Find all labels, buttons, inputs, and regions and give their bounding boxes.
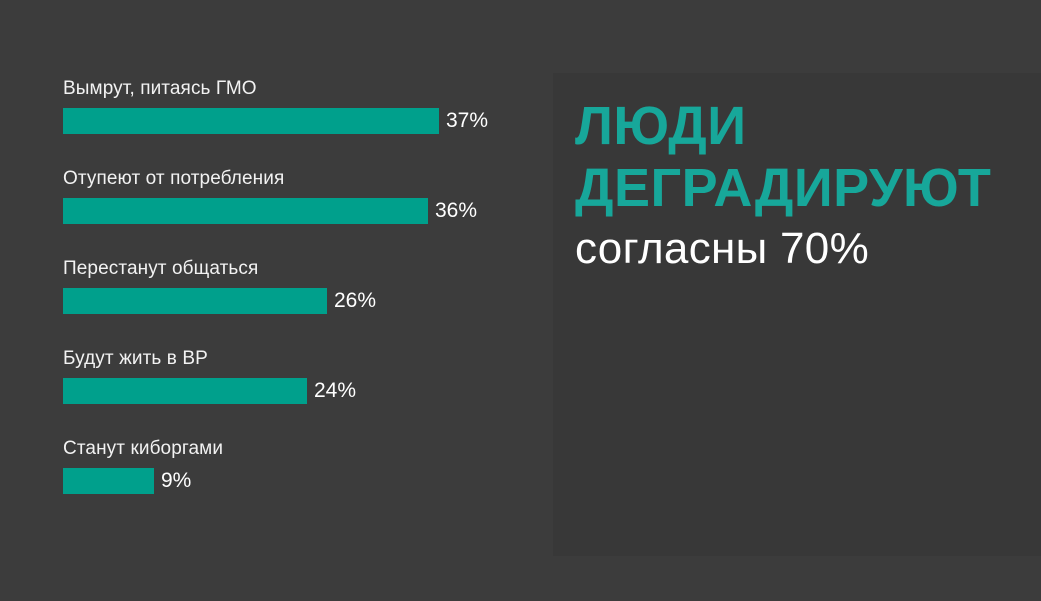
bar-value-label: 26% <box>334 288 376 314</box>
bar-row: Вымрут, питаясь ГМО37% <box>63 78 533 134</box>
bar-fill <box>63 378 307 404</box>
bar-row: Станут киборгами9% <box>63 438 533 494</box>
headline-line-2: ДЕГРАДИРУЮТ <box>575 157 1015 219</box>
headline-panel: ЛЮДИ ДЕГРАДИРУЮТ согласны 70% <box>553 73 1041 556</box>
infographic-slide: Вымрут, питаясь ГМО37%Отупеют от потребл… <box>0 0 1041 601</box>
bar-value-label: 9% <box>161 468 191 494</box>
bar-label: Вымрут, питаясь ГМО <box>63 78 533 100</box>
bar-value-label: 37% <box>446 108 488 134</box>
bar-fill <box>63 468 154 494</box>
bar-label: Отупеют от потребления <box>63 168 533 190</box>
bar-track: 37% <box>63 108 533 134</box>
bar-track: 24% <box>63 378 533 404</box>
bar-row: Отупеют от потребления36% <box>63 168 533 224</box>
bar-fill <box>63 108 439 134</box>
bar-value-label: 36% <box>435 198 477 224</box>
headline-text-block: ЛЮДИ ДЕГРАДИРУЮТ согласны 70% <box>575 95 1015 277</box>
bar-fill <box>63 288 327 314</box>
bar-track: 9% <box>63 468 533 494</box>
bar-track: 36% <box>63 198 533 224</box>
bar-value-label: 24% <box>314 378 356 404</box>
bar-label: Станут киборгами <box>63 438 533 460</box>
headline-line-1: ЛЮДИ <box>575 95 1015 157</box>
bar-row: Перестанут общаться26% <box>63 258 533 314</box>
headline-line-3: согласны 70% <box>575 221 1015 277</box>
bar-fill <box>63 198 428 224</box>
bar-label: Перестанут общаться <box>63 258 533 280</box>
bar-track: 26% <box>63 288 533 314</box>
bar-label: Будут жить в ВР <box>63 348 533 370</box>
bar-chart: Вымрут, питаясь ГМО37%Отупеют от потребл… <box>63 78 533 528</box>
bar-row: Будут жить в ВР24% <box>63 348 533 404</box>
